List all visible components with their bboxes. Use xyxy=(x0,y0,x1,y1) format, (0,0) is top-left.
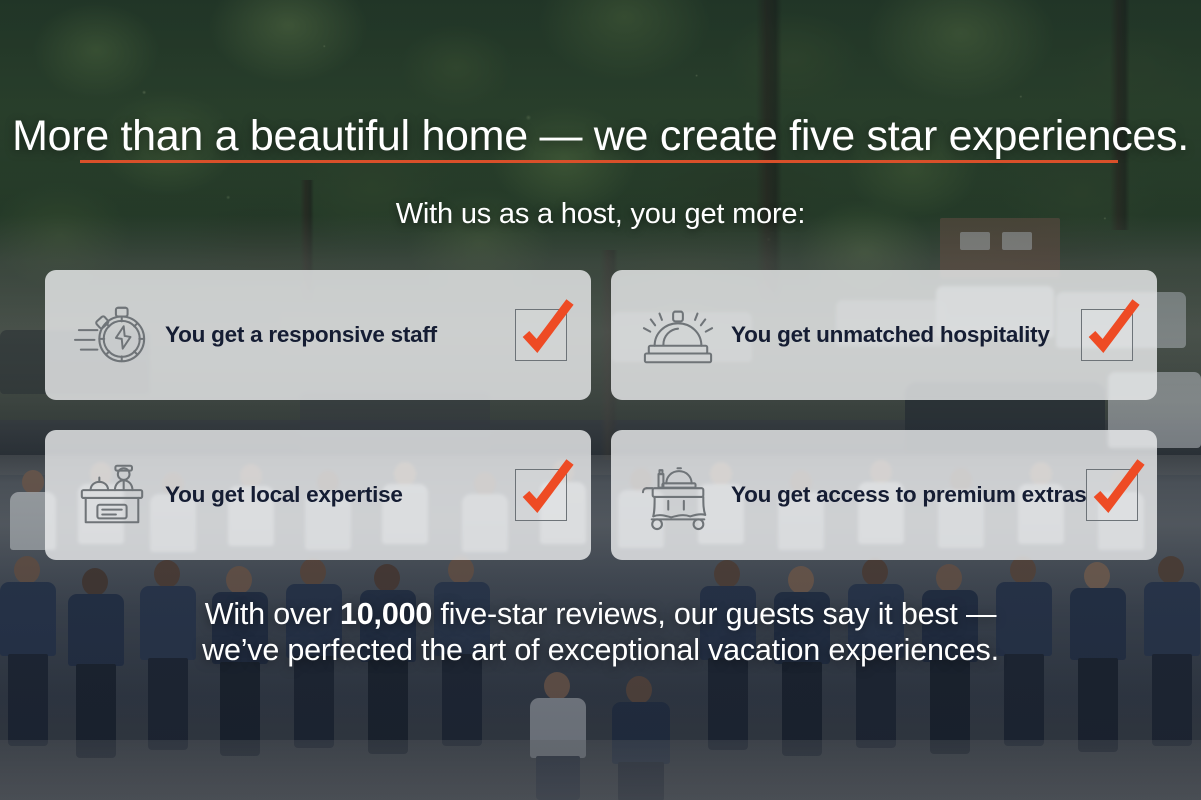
service-bell-icon xyxy=(637,297,719,373)
check-mark-icon xyxy=(1078,296,1144,362)
benefit-label: You get local expertise xyxy=(153,482,515,508)
benefits-grid: You get a responsive staff xyxy=(45,270,1157,590)
check-mark-icon xyxy=(1083,456,1149,522)
benefit-label: You get access to premium extras xyxy=(719,482,1086,508)
page-title: More than a beautiful home — we create f… xyxy=(0,112,1201,161)
benefit-checkbox[interactable] xyxy=(1086,469,1138,521)
concierge-desk-icon xyxy=(71,457,153,533)
benefit-checkbox[interactable] xyxy=(515,309,567,361)
footer-line-1: With over 10,000 five-star reviews, our … xyxy=(0,596,1201,632)
check-mark-icon xyxy=(512,456,578,522)
footer-statement: With over 10,000 five-star reviews, our … xyxy=(0,596,1201,668)
benefit-label: You get a responsive staff xyxy=(153,322,515,348)
benefit-card-responsive-staff[interactable]: You get a responsive staff xyxy=(45,270,591,400)
benefit-card-local-expertise[interactable]: You get local expertise xyxy=(45,430,591,560)
room-service-cart-icon xyxy=(637,457,719,533)
benefit-card-unmatched-hospitality[interactable]: You get unmatched hospitality xyxy=(611,270,1157,400)
stopwatch-speed-icon xyxy=(71,297,153,373)
footer-prefix: With over xyxy=(205,597,340,631)
benefits-row-1: You get a responsive staff xyxy=(45,270,1157,400)
check-mark-icon xyxy=(512,296,578,362)
benefit-label: You get unmatched hospitality xyxy=(719,322,1081,348)
benefit-card-premium-extras[interactable]: You get access to premium extras xyxy=(611,430,1157,560)
review-count: 10,000 xyxy=(340,597,432,631)
footer-line-2: we’ve perfected the art of exceptional v… xyxy=(0,632,1201,668)
benefit-checkbox[interactable] xyxy=(1081,309,1133,361)
benefits-row-2: You get local expertise xyxy=(45,430,1157,560)
title-underline-rule xyxy=(80,160,1118,163)
page-subtitle: With us as a host, you get more: xyxy=(0,198,1201,231)
benefit-checkbox[interactable] xyxy=(515,469,567,521)
footer-suffix: five-star reviews, our guests say it bes… xyxy=(432,597,996,631)
